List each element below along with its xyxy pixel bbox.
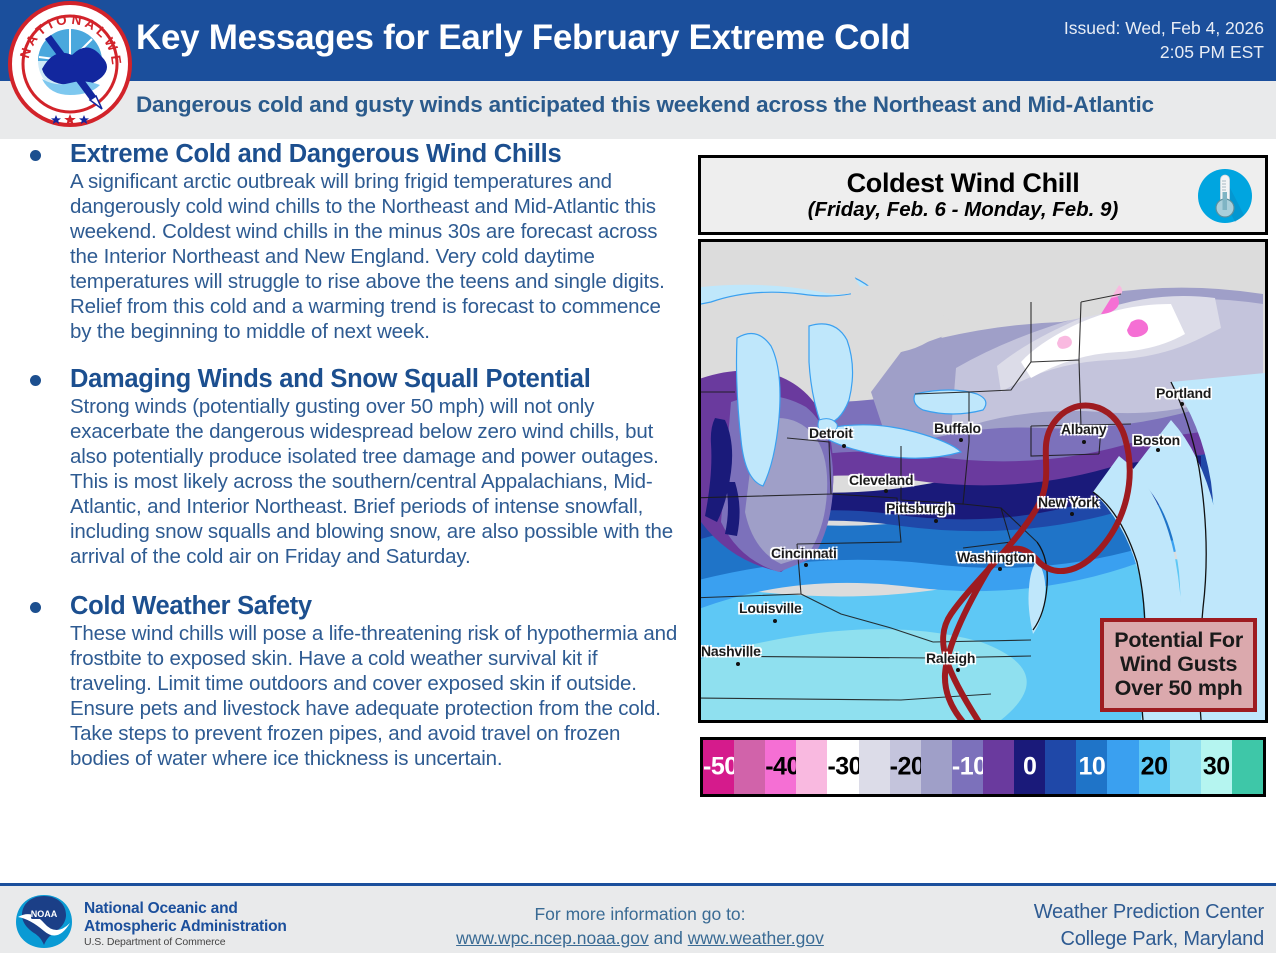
scale-tick-label: -10 <box>952 753 983 782</box>
city-label: Washington <box>957 549 1035 565</box>
key-message-body: A significant arctic outbreak will bring… <box>70 169 678 344</box>
city-marker-dot <box>884 489 888 493</box>
key-message-heading: Cold Weather Safety <box>70 591 690 621</box>
scale-band: 30 <box>1201 740 1232 794</box>
scale-band <box>1170 740 1201 794</box>
wind-chill-map: DetroitBuffaloAlbanyBostonPortlandClevel… <box>698 239 1268 723</box>
scale-tick-label: -50 <box>703 753 734 782</box>
key-message-heading: Extreme Cold and Dangerous Wind Chills <box>70 139 690 169</box>
scale-band <box>1045 740 1076 794</box>
city-marker-dot <box>842 444 846 448</box>
city-marker-dot <box>736 662 740 666</box>
agency-name: National Oceanic and Atmospheric Adminis… <box>84 900 287 936</box>
noaa-logo-icon: NOAA <box>14 893 74 950</box>
city-label: New York <box>1038 494 1099 510</box>
city-label: Cleveland <box>849 472 913 488</box>
city-label: Nashville <box>701 643 761 659</box>
scale-band: -10 <box>952 740 983 794</box>
city-marker-dot <box>804 563 808 567</box>
city-label: Raleigh <box>926 650 975 666</box>
city-marker-dot <box>1082 440 1086 444</box>
key-message-body: Strong winds (potentially gusting over 5… <box>70 394 678 569</box>
city-marker-dot <box>934 519 938 523</box>
scale-band <box>921 740 952 794</box>
page-title: Key Messages for Early February Extreme … <box>136 14 1006 62</box>
key-message-item: Cold Weather Safety These wind chills wi… <box>0 591 690 771</box>
more-info-links: www.wpc.ncep.noaa.gov and www.weather.go… <box>430 926 850 950</box>
city-label: Albany <box>1061 421 1106 437</box>
bullet-dot-icon <box>30 150 41 161</box>
scale-band: -20 <box>890 740 921 794</box>
key-message-item: Damaging Winds and Snow Squall Potential… <box>0 364 690 569</box>
scale-tick-label: 10 <box>1076 753 1107 782</box>
scale-band: -30 <box>827 740 858 794</box>
agency-line-2: Atmospheric Administration <box>84 918 287 936</box>
svg-text:NOAA: NOAA <box>31 909 58 919</box>
city-label: Louisville <box>739 600 802 616</box>
agency-line-1: National Oceanic and <box>84 900 287 918</box>
scale-band <box>859 740 890 794</box>
wind-chill-color-scale: -50-40-30-20-100102030 <box>700 737 1266 797</box>
scale-tick-label: -30 <box>827 753 858 782</box>
subtitle: Dangerous cold and gusty winds anticipat… <box>136 92 1266 118</box>
city-marker-dot <box>773 619 777 623</box>
key-messages-list: Extreme Cold and Dangerous Wind Chills A… <box>0 139 690 883</box>
scale-tick-label: 30 <box>1201 753 1232 782</box>
city-label: Boston <box>1133 432 1180 448</box>
annotation-line-3: Over 50 mph <box>1114 676 1243 700</box>
city-marker-dot <box>1156 448 1160 452</box>
issued-time: 2:05 PM EST <box>994 40 1264 64</box>
thermometer-icon <box>1195 166 1255 226</box>
link-separator: and <box>649 928 688 948</box>
wind-gust-annotation: Potential For Wind Gusts Over 50 mph <box>1100 618 1257 712</box>
map-panel: Coldest Wind Chill (Friday, Feb. 6 - Mon… <box>698 155 1268 723</box>
scale-band <box>796 740 827 794</box>
city-label: Detroit <box>809 425 853 441</box>
wpc-link[interactable]: www.wpc.ncep.noaa.gov <box>456 928 649 948</box>
map-title: Coldest Wind Chill <box>808 169 1119 198</box>
office-credit: Weather Prediction Center College Park, … <box>1034 899 1264 953</box>
map-header: Coldest Wind Chill (Friday, Feb. 6 - Mon… <box>698 155 1268 235</box>
issued-timestamp: Issued: Wed, Feb 4, 2026 2:05 PM EST <box>994 16 1264 64</box>
scale-band: -50 <box>703 740 734 794</box>
scale-band <box>1107 740 1138 794</box>
scale-tick-label: 20 <box>1139 753 1170 782</box>
more-info-label: For more information go to: <box>430 902 850 926</box>
agency-department: U.S. Department of Commerce <box>84 936 225 948</box>
scale-band <box>983 740 1014 794</box>
annotation-line-2: Wind Gusts <box>1114 652 1243 676</box>
city-label: Cincinnati <box>771 545 837 561</box>
scale-band: 20 <box>1139 740 1170 794</box>
scale-band <box>734 740 765 794</box>
scale-tick-label: -40 <box>765 753 796 782</box>
scale-band: 0 <box>1014 740 1045 794</box>
scale-tick-label: -20 <box>890 753 921 782</box>
key-message-item: Extreme Cold and Dangerous Wind Chills A… <box>0 139 690 344</box>
more-info: For more information go to: www.wpc.ncep… <box>430 902 850 950</box>
scale-band: -40 <box>765 740 796 794</box>
issued-date: Issued: Wed, Feb 4, 2026 <box>994 16 1264 40</box>
bullet-dot-icon <box>30 375 41 386</box>
scale-band: 10 <box>1076 740 1107 794</box>
office-location: College Park, Maryland <box>1034 926 1264 953</box>
city-label: Pittsburgh <box>886 500 954 516</box>
city-marker-dot <box>956 668 960 672</box>
graphic-page: Key Messages for Early February Extreme … <box>0 0 1276 953</box>
map-subtitle: (Friday, Feb. 6 - Monday, Feb. 9) <box>808 199 1119 221</box>
city-marker-dot <box>1180 402 1184 406</box>
city-marker-dot <box>998 567 1002 571</box>
city-label: Buffalo <box>934 420 981 436</box>
scale-tick-label: 0 <box>1014 753 1045 782</box>
key-message-body: These wind chills will pose a life-threa… <box>70 621 678 771</box>
nws-seal-icon: N A T I O N A L W E A T H E R S E R V <box>4 1 136 127</box>
weather-gov-link[interactable]: www.weather.gov <box>688 928 824 948</box>
key-message-heading: Damaging Winds and Snow Squall Potential <box>70 364 690 394</box>
city-marker-dot <box>959 438 963 442</box>
city-marker-dot <box>1070 512 1074 516</box>
city-label: Portland <box>1156 385 1211 401</box>
scale-band <box>1232 740 1263 794</box>
bullet-dot-icon <box>30 602 41 613</box>
office-name: Weather Prediction Center <box>1034 899 1264 926</box>
annotation-line-1: Potential For <box>1114 628 1243 652</box>
